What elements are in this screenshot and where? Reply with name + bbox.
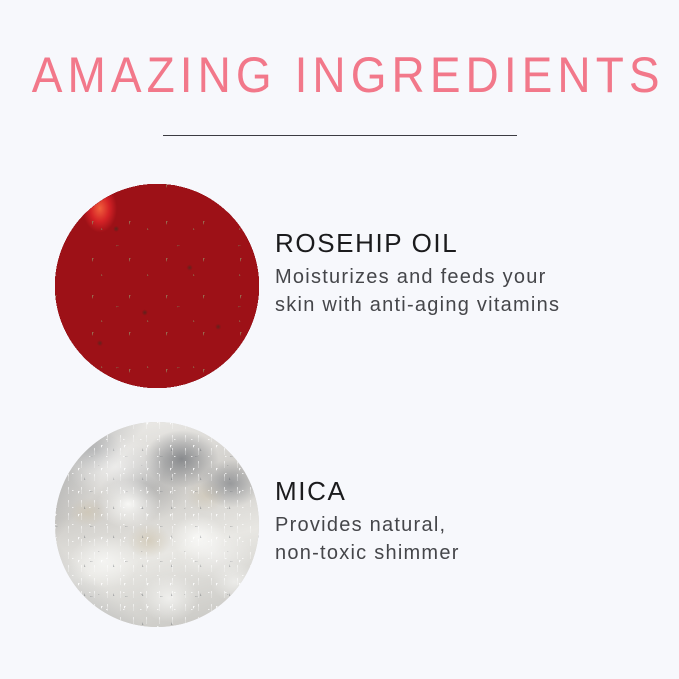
mica-mineral-image xyxy=(55,422,259,627)
ingredient-info-rosehip-oil: ROSEHIP OIL Moisturizes and feeds your s… xyxy=(275,228,655,319)
ingredients-infographic: AMAZING INGREDIENTS ROSEHIP OIL Moisturi… xyxy=(0,0,679,679)
ingredient-name: MICA xyxy=(275,476,655,506)
page-title: AMAZING INGREDIENTS xyxy=(27,48,652,102)
ingredient-description-line: Moisturizes and feeds your xyxy=(275,263,655,291)
title-divider xyxy=(163,135,517,136)
header: AMAZING INGREDIENTS xyxy=(0,48,679,102)
ingredient-description-line: Provides natural, xyxy=(275,511,655,539)
ingredient-name: ROSEHIP OIL xyxy=(275,228,655,258)
rosehip-berries-image xyxy=(55,184,259,388)
ingredient-description-line: skin with anti-aging vitamins xyxy=(275,291,655,319)
mica-mineral-texture xyxy=(55,422,259,627)
rosehip-berries-texture xyxy=(55,184,259,388)
ingredient-row-mica: MICA Provides natural, non-toxic shimmer xyxy=(0,422,679,627)
ingredient-row-rosehip-oil: ROSEHIP OIL Moisturizes and feeds your s… xyxy=(0,184,679,388)
ingredient-description-line: non-toxic shimmer xyxy=(275,539,655,567)
ingredient-info-mica: MICA Provides natural, non-toxic shimmer xyxy=(275,476,655,567)
